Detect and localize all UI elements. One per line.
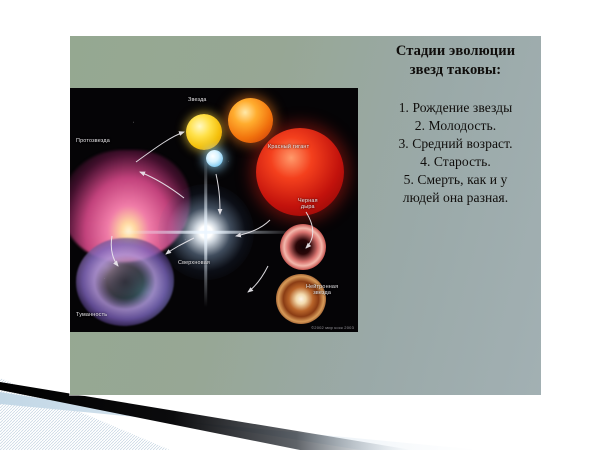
- list-item: 3. Средний возраст.: [370, 135, 541, 153]
- slide-content-panel: Протозвезда Звезда Красный гигант Черная…: [70, 36, 541, 395]
- list-item: людей она разная.: [370, 189, 541, 207]
- label-star: Звезда: [188, 97, 207, 103]
- evolution-stage-list: 1. Рождение звезды 2. Молодость. 3. Сред…: [370, 99, 541, 207]
- list-item: 1. Рождение звезды: [370, 99, 541, 117]
- slide-heading: Стадии эволюции звезд таковы:: [370, 42, 541, 79]
- label-nebula: Туманность: [76, 312, 107, 318]
- label-red-giant: Красный гигант: [268, 144, 309, 150]
- list-item: 5. Смерть, как и у: [370, 171, 541, 189]
- slide-text-column: Стадии эволюции звезд таковы: 1. Рождени…: [370, 36, 541, 395]
- label-protostar: Протозвезда: [76, 138, 110, 144]
- label-neutron-star: Нейтронная звезда: [306, 284, 338, 296]
- label-supernova: Сверхновая: [178, 260, 210, 266]
- image-credit: ©2002 мир коск 2003: [311, 325, 354, 330]
- list-item: 2. Молодость.: [370, 117, 541, 135]
- star-evolution-diagram-image: Протозвезда Звезда Красный гигант Черная…: [70, 88, 358, 332]
- label-black-hole: Черная дыра: [298, 198, 318, 210]
- deco-light-band: [0, 392, 480, 450]
- list-item: 4. Старость.: [370, 153, 541, 171]
